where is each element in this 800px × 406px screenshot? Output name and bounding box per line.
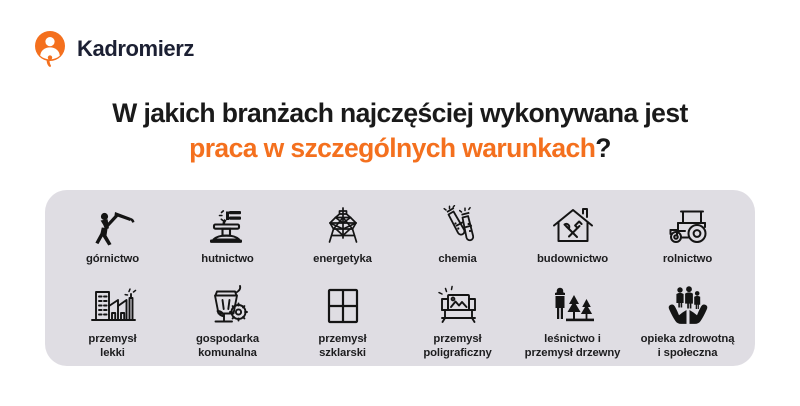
printing-press-icon — [434, 284, 482, 328]
industry-label: opieka zdrowotną i społeczna — [641, 332, 735, 361]
industry-item-przemysl-poligraficzny[interactable]: przemysł poligraficzny — [400, 284, 515, 366]
headline-highlight: praca w szczególnych warunkach — [189, 133, 595, 163]
industry-item-gornictwo[interactable]: górnictwo — [55, 204, 170, 284]
industries-grid: górnictwo hutnictwo — [55, 204, 745, 356]
industry-label: gospodarka komunalna — [196, 332, 259, 361]
industry-label: górnictwo — [86, 252, 139, 266]
industry-label: przemysł poligraficzny — [423, 332, 491, 361]
window-pane-icon — [322, 284, 364, 328]
industry-label: hutnictwo — [201, 252, 253, 266]
headline-line-1: W jakich branżach najczęściej wykonywana… — [0, 96, 800, 131]
industry-item-przemysl-szklarski[interactable]: przemysł szklarski — [285, 284, 400, 366]
industry-label: chemia — [438, 252, 476, 266]
industry-item-gospodarka-komunalna[interactable]: gospodarka komunalna — [170, 284, 285, 366]
person-circle-logo-icon — [34, 30, 68, 68]
industry-label: przemysł lekki — [88, 332, 136, 361]
test-tubes-icon — [436, 204, 480, 248]
miner-pickaxe-icon — [91, 204, 135, 248]
industry-item-chemia[interactable]: chemia — [400, 204, 515, 284]
industry-item-lesnictwo[interactable]: leśnictwo i przemysł drzewny — [515, 284, 630, 366]
trash-bin-gear-icon — [204, 284, 252, 328]
industry-item-opieka-zdrowotna[interactable]: opieka zdrowotną i społeczna — [630, 284, 745, 366]
forestry-worker-trees-icon — [548, 284, 598, 328]
industry-item-przemysl-lekki[interactable]: przemysł lekki — [55, 284, 170, 366]
industries-panel: górnictwo hutnictwo — [45, 190, 755, 366]
industry-item-energetyka[interactable]: energetyka — [285, 204, 400, 284]
factory-buildings-icon — [88, 284, 138, 328]
brand-logo[interactable]: Kadromierz — [34, 30, 194, 68]
industry-label: przemysł szklarski — [318, 332, 366, 361]
industry-label: budownictwo — [537, 252, 608, 266]
industry-label: energetyka — [313, 252, 372, 266]
industry-item-rolnictwo[interactable]: rolnictwo — [630, 204, 745, 284]
industry-item-hutnictwo[interactable]: hutnictwo — [170, 204, 285, 284]
page-title: W jakich branżach najczęściej wykonywana… — [0, 96, 800, 166]
headline-line-2: praca w szczególnych warunkach? — [0, 131, 800, 166]
industry-label: rolnictwo — [663, 252, 712, 266]
power-pylon-icon — [321, 204, 365, 248]
industry-label: leśnictwo i przemysł drzewny — [525, 332, 621, 361]
brand-name: Kadromierz — [77, 38, 194, 60]
industry-item-budownictwo[interactable]: budownictwo — [515, 204, 630, 284]
house-tools-icon — [550, 204, 596, 248]
foundry-ladle-icon — [205, 204, 251, 248]
headline-question-mark: ? — [595, 133, 611, 163]
tractor-icon — [663, 204, 713, 248]
hands-family-care-icon — [663, 284, 713, 328]
